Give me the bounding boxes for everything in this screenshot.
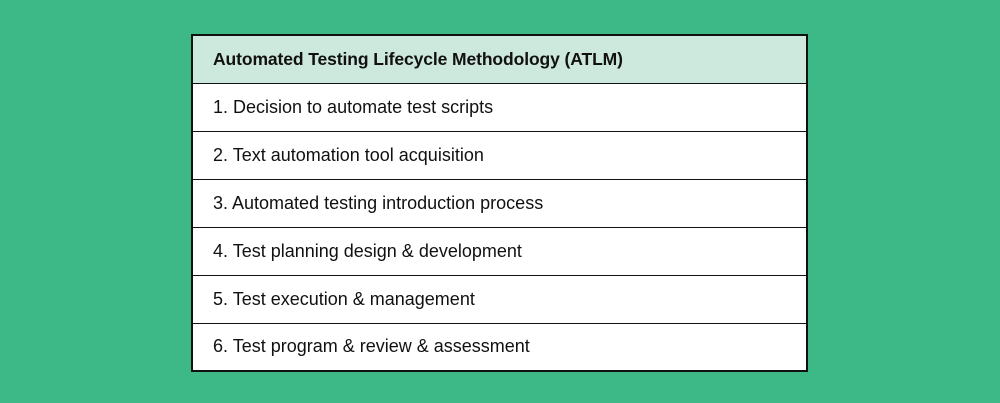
atlm-methodology-table: Automated Testing Lifecycle Methodology … — [191, 34, 808, 372]
step-cell-3: 3. Automated testing introduction proces… — [192, 179, 807, 227]
slide-canvas: Automated Testing Lifecycle Methodology … — [0, 0, 1000, 403]
table-row: 6. Test program & review & assessment — [192, 323, 807, 371]
step-cell-4: 4. Test planning design & development — [192, 227, 807, 275]
step-cell-5: 5. Test execution & management — [192, 275, 807, 323]
table-header-row: Automated Testing Lifecycle Methodology … — [192, 35, 807, 83]
step-label-4: 4. Test planning design & development — [213, 241, 522, 262]
step-label-3: 3. Automated testing introduction proces… — [213, 193, 543, 214]
table-row: 5. Test execution & management — [192, 275, 807, 323]
table-row: 4. Test planning design & development — [192, 227, 807, 275]
table-row: 2. Text automation tool acquisition — [192, 131, 807, 179]
step-label-2: 2. Text automation tool acquisition — [213, 145, 484, 166]
step-label-1: 1. Decision to automate test scripts — [213, 97, 493, 118]
step-label-6: 6. Test program & review & assessment — [213, 336, 530, 357]
table-body: 1. Decision to automate test scripts 2. … — [192, 83, 807, 371]
table-row: 1. Decision to automate test scripts — [192, 83, 807, 131]
table-title: Automated Testing Lifecycle Methodology … — [192, 35, 807, 83]
table-header: Automated Testing Lifecycle Methodology … — [192, 35, 807, 83]
step-cell-2: 2. Text automation tool acquisition — [192, 131, 807, 179]
step-cell-6: 6. Test program & review & assessment — [192, 323, 807, 371]
step-cell-1: 1. Decision to automate test scripts — [192, 83, 807, 131]
table-row: 3. Automated testing introduction proces… — [192, 179, 807, 227]
step-label-5: 5. Test execution & management — [213, 289, 475, 310]
